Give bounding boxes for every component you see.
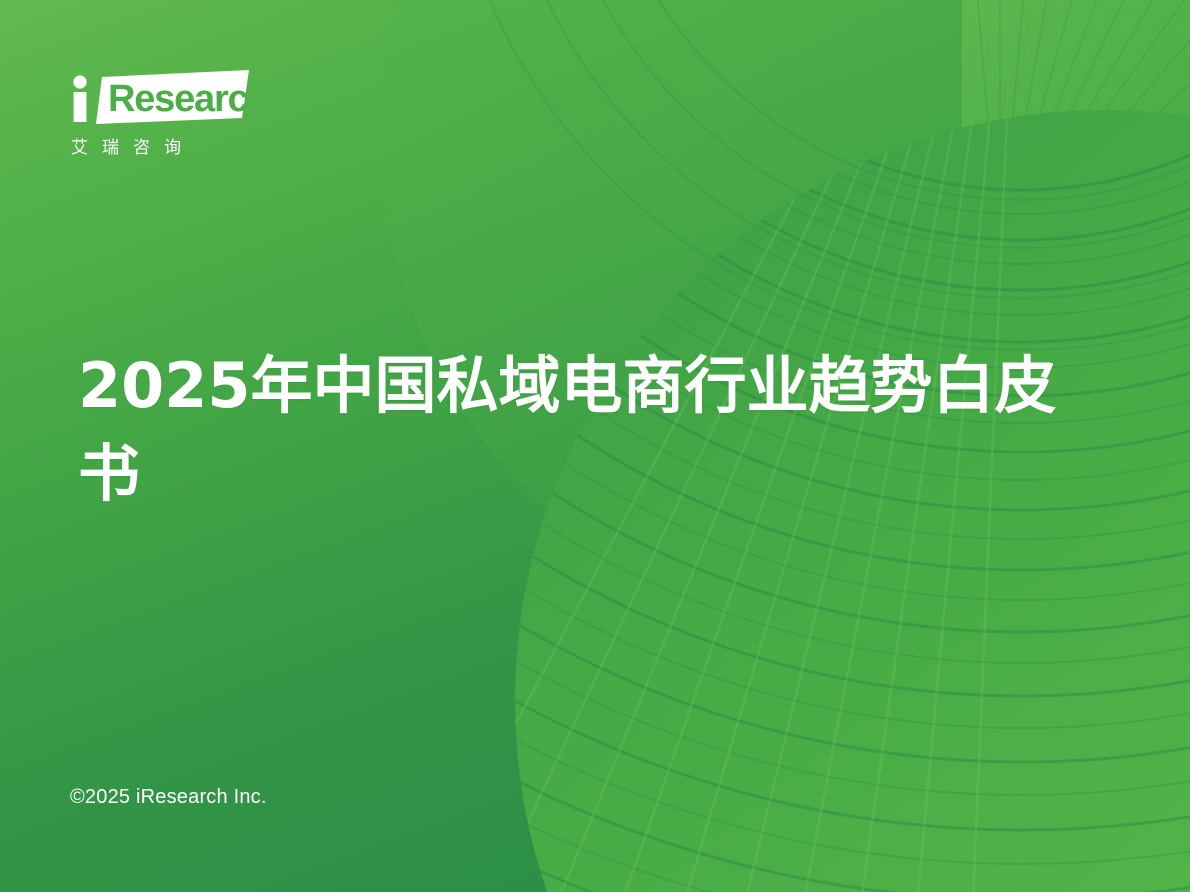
logo-subtitle: 艾瑞咨询 bbox=[71, 133, 296, 158]
iresearch-logo-icon: Research bbox=[66, 68, 251, 126]
logo-wordmark-research: Research bbox=[108, 78, 251, 120]
brand-logo: Research 艾瑞咨询 bbox=[66, 68, 296, 158]
copyright-notice: ©2025 iResearch Inc. bbox=[70, 786, 267, 809]
report-cover-page: Research 艾瑞咨询 2025年中国私域电商行业趋势白皮书 ©2025 i… bbox=[0, 0, 1190, 892]
page-title: 2025年中国私域电商行业趋势白皮书 bbox=[78, 342, 1113, 518]
